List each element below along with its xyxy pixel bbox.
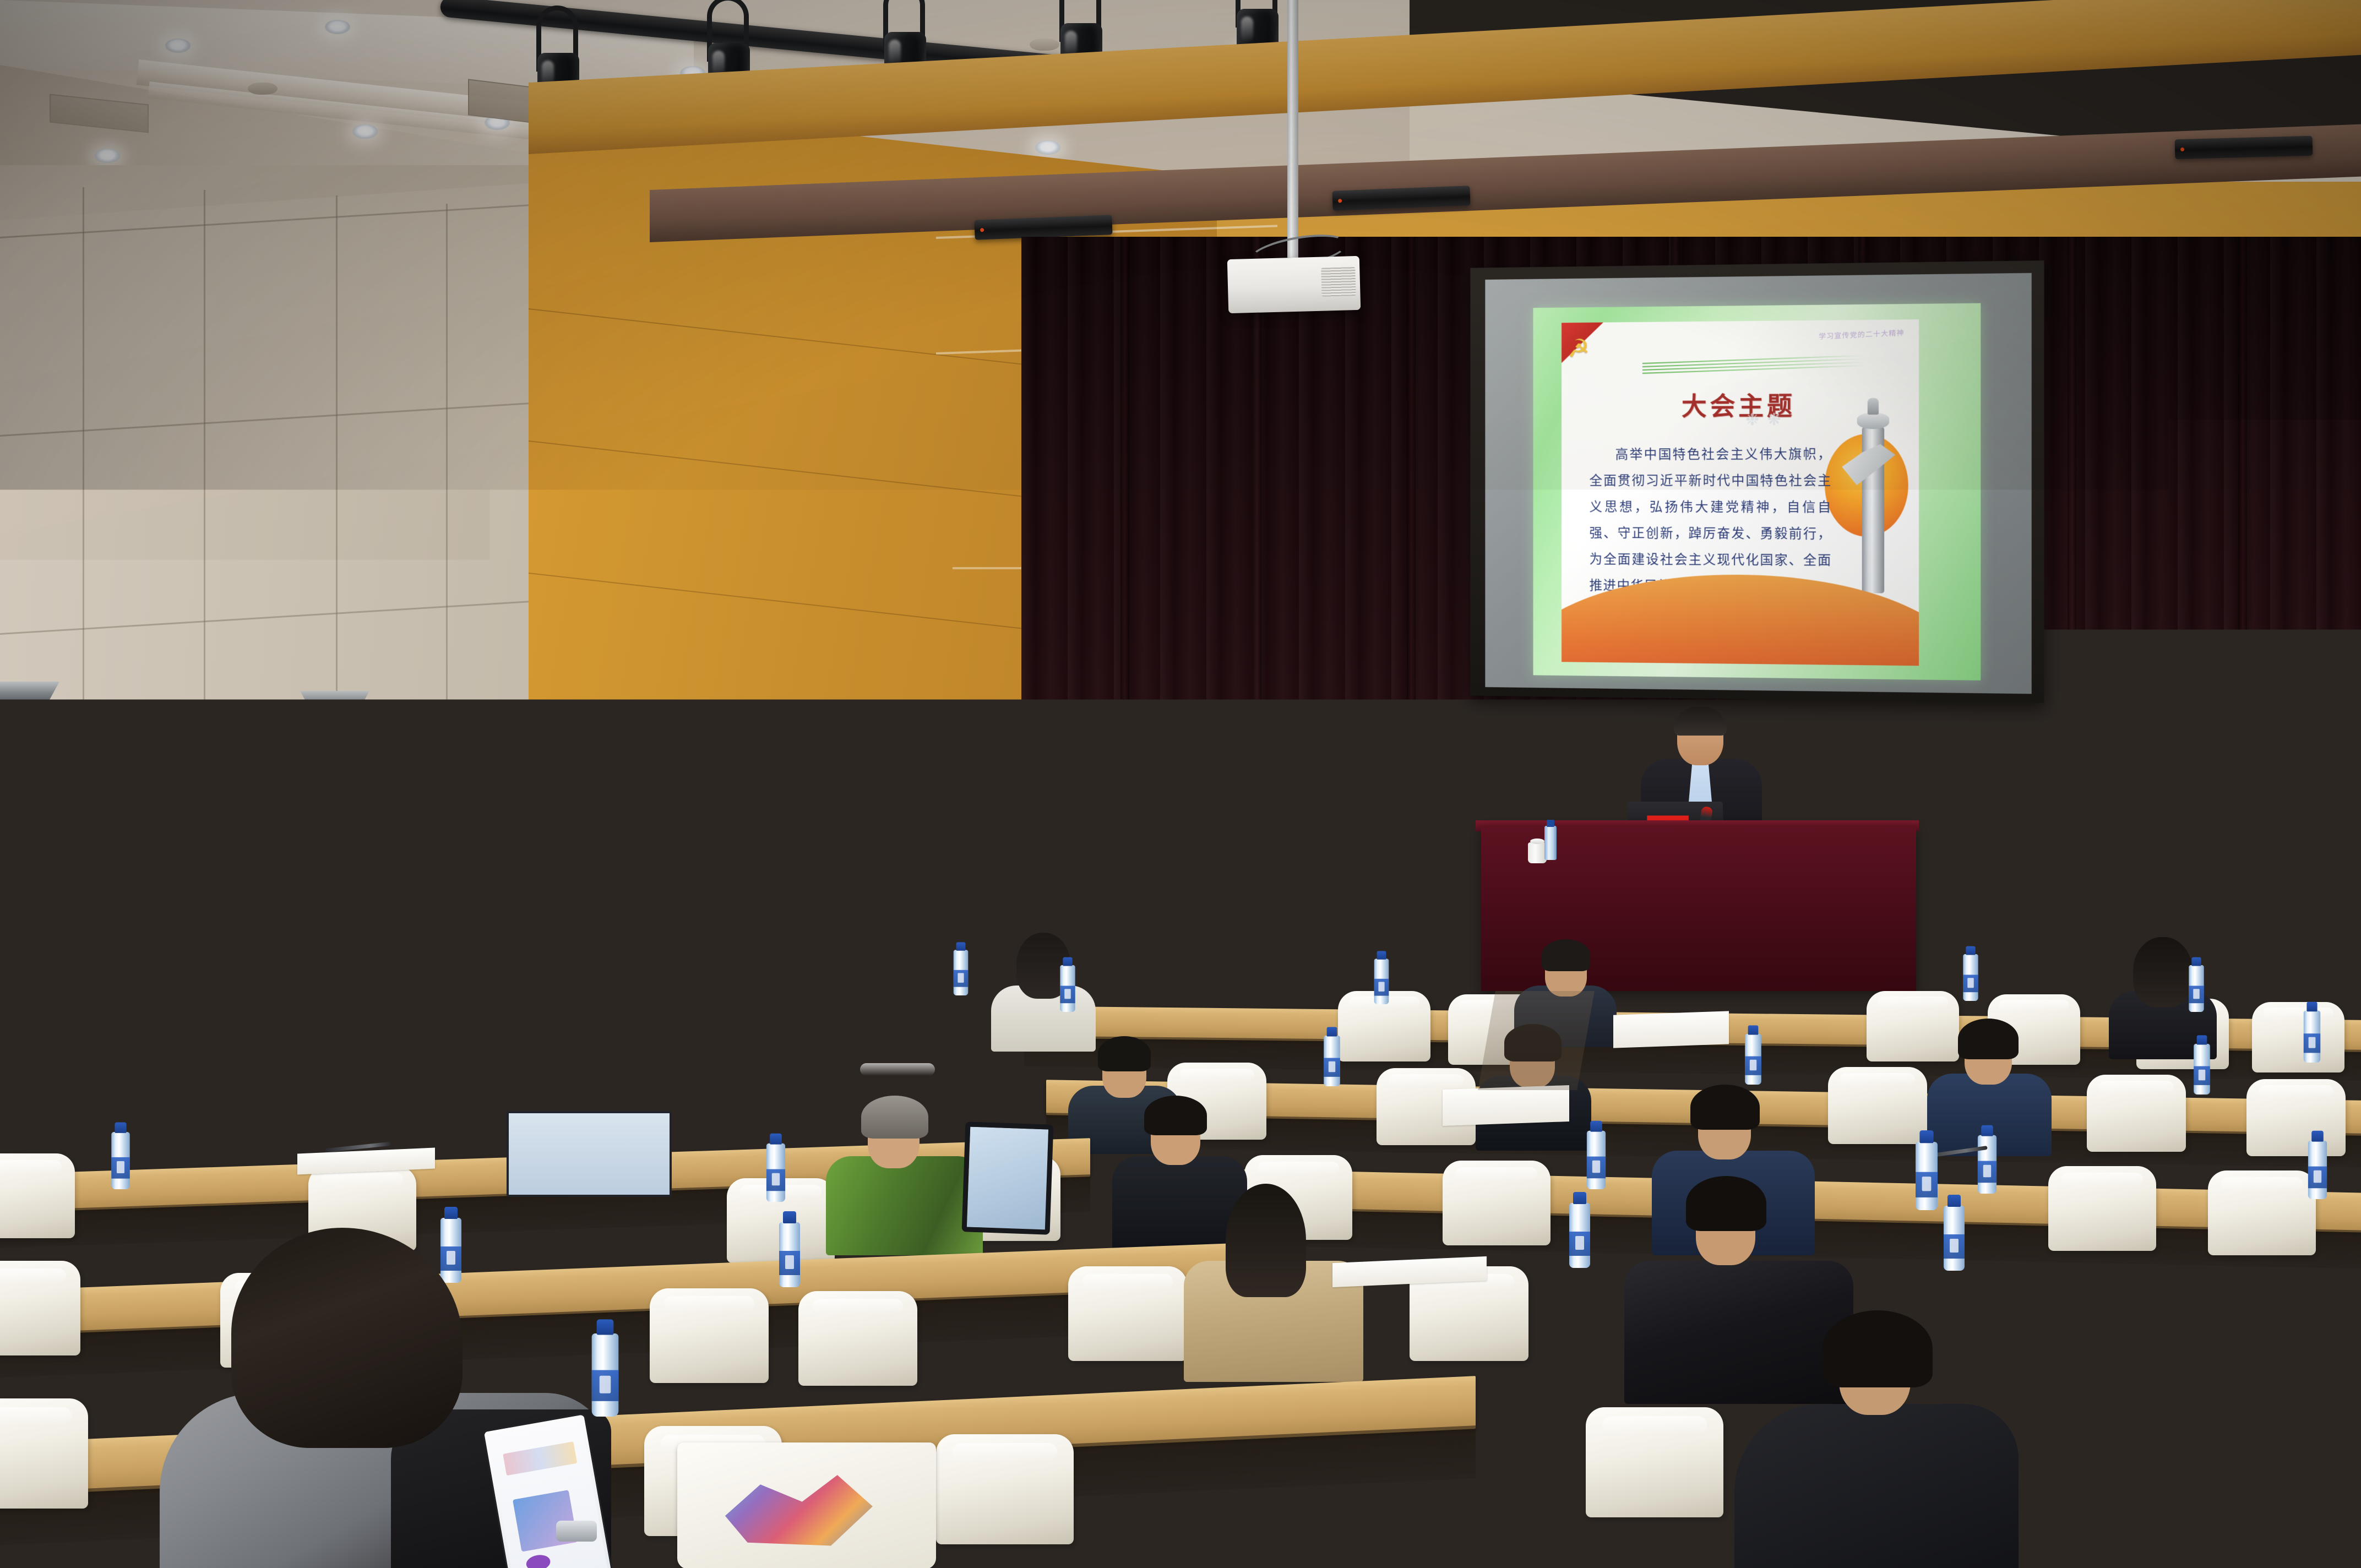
- person-hair: [1958, 1019, 2019, 1059]
- slide-header-tag: 学习宣传党的二十大精神: [1819, 326, 1905, 341]
- audience-chair: [1443, 1161, 1551, 1245]
- audience-chair: [0, 1261, 80, 1355]
- water-bottle: [2304, 1011, 2320, 1063]
- water-bottle: [345, 933, 358, 973]
- recessed-downlight: [165, 39, 191, 53]
- slide-rule-lines: [1642, 358, 1864, 374]
- person-hair: [1823, 1310, 1933, 1387]
- audience-chair: [2197, 1487, 2361, 1568]
- tote-bag: [677, 1442, 936, 1568]
- water-bottle: [779, 1222, 800, 1287]
- lectern-shelf: [1131, 822, 1258, 831]
- tea-mug: [1528, 842, 1547, 863]
- person-torso: [826, 1156, 983, 1255]
- audience-chair: [1586, 1407, 1723, 1517]
- audience-chair: [0, 1065, 77, 1142]
- audience-laptop: [209, 1035, 341, 1103]
- cpc-emblem-icon: ☭: [1565, 336, 1593, 364]
- person-hair: [1686, 1176, 1766, 1231]
- water-bottle: [2194, 1044, 2210, 1095]
- wall-panel-seam: [446, 204, 448, 820]
- audience-chair: [936, 1434, 1074, 1544]
- water-bottle: [1324, 1036, 1340, 1086]
- water-bottle: [1544, 826, 1557, 860]
- smoke-detector: [1030, 39, 1059, 51]
- audience-chair: [99, 994, 192, 1065]
- notebook: [1613, 1011, 1729, 1048]
- audience-chair: [650, 1288, 769, 1383]
- university-seal-icon: [1175, 863, 1215, 902]
- audience-laptop: [1129, 911, 1217, 957]
- slide-content-panel: ☭ 学习宣传党的二十大精神 大会主题 ❉ ❋ 高举中国特色社会主义伟大旗帜，全面…: [1562, 319, 1919, 666]
- audience-chair: [0, 1398, 88, 1509]
- water-bottle: [1963, 954, 1978, 1001]
- notebook: [1443, 1085, 1569, 1126]
- recessed-downlight: [352, 124, 378, 139]
- line-array-speaker: [2175, 136, 2313, 160]
- audience-chair: [798, 1291, 917, 1386]
- recessed-downlight: [1035, 140, 1060, 155]
- wall-panel-seam: [204, 190, 205, 823]
- audience-member: [1734, 1310, 2021, 1568]
- screen-surface: ☭ 学习宣传党的二十大精神 大会主题 ❉ ❋ 高举中国特色社会主义伟大旗帜，全面…: [1485, 273, 2031, 694]
- audience-chair: [1828, 1067, 1927, 1144]
- person-hair: [1226, 1184, 1306, 1297]
- audience-member: [991, 928, 1096, 1049]
- presenter-hair: [1674, 707, 1727, 736]
- audience-chair: [2175, 1283, 2294, 1378]
- recessed-downlight: [95, 149, 120, 163]
- audience-chair: [2252, 1002, 2344, 1072]
- center-aisle: [1478, 991, 1595, 1090]
- phone-screen-content: [488, 1418, 608, 1568]
- audience-laptop: [507, 1111, 672, 1197]
- cloud-decoration-icon: ❉ ❋: [1745, 410, 1782, 429]
- person-hair: [436, 1023, 500, 1090]
- audience-chair: [1068, 1266, 1187, 1361]
- audience-chair: [2087, 1075, 2186, 1152]
- water-bottle: [1745, 1034, 1761, 1085]
- wristwatch: [556, 1521, 597, 1542]
- projector-vent-grill: [1321, 267, 1356, 297]
- recessed-downlight: [325, 20, 350, 34]
- person-hair: [2133, 937, 2193, 1008]
- water-bottle: [111, 1132, 129, 1189]
- wall-panel-seam: [83, 187, 84, 820]
- water-bottle: [1978, 1135, 1996, 1194]
- audience-member: [826, 1096, 986, 1255]
- person-hair: [1690, 1085, 1760, 1130]
- water-bottle: [1916, 1142, 1938, 1210]
- lectern-nameplate: 北京交通大学: [1135, 804, 1255, 818]
- water-bottle: [1374, 959, 1389, 1004]
- audience-chair: [2048, 1166, 2156, 1251]
- person-hair: [217, 954, 272, 1002]
- auditorium-photo: ☭ 学习宣传党的二十大精神 大会主题 ❉ ❋ 高举中国特色社会主义伟大旗帜，全面…: [0, 0, 2361, 1568]
- water-bottle: [954, 950, 969, 995]
- audience-chair: [903, 984, 995, 1055]
- person-hair: [1144, 1096, 1207, 1135]
- person-torso: [1734, 1404, 2019, 1568]
- water-bottle: [1587, 1131, 1606, 1189]
- audience-laptop: [0, 972, 110, 1028]
- water-bottle: [1569, 1203, 1590, 1268]
- water-bottle: [2189, 965, 2204, 1012]
- person-hair: [1542, 939, 1590, 971]
- wall-panel-seam: [336, 195, 338, 823]
- water-bottle: [592, 1333, 619, 1417]
- lectern-top: 北京交通大学: [1135, 801, 1255, 823]
- projection-screen: ☭ 学习宣传党的二十大精神 大会主题 ❉ ❋ 高举中国特色社会主义伟大旗帜，全面…: [1470, 260, 2044, 703]
- water-bottle: [766, 1144, 785, 1202]
- water-bottle: [1060, 965, 1075, 1012]
- projector-mount-pole: [1287, 0, 1298, 258]
- person-hair: [861, 1096, 928, 1139]
- water-bottle: [2308, 1141, 2327, 1199]
- audience-chair: [0, 1153, 75, 1238]
- ceiling-projector: [1227, 256, 1361, 313]
- tablet-device: [962, 1121, 1054, 1234]
- person-hair: [1098, 1036, 1151, 1071]
- audience-chair: [793, 986, 885, 1056]
- water-bottle: [736, 1049, 752, 1100]
- water-bottle: [1944, 1206, 1965, 1271]
- presentation-slide: ☭ 学习宣传党的二十大精神 大会主题 ❉ ❋ 高举中国特色社会主义伟大旗帜，全面…: [1533, 303, 1981, 680]
- person-hair: [231, 1228, 463, 1448]
- smoke-detector: [248, 83, 278, 95]
- tote-bag-print: [719, 1471, 879, 1549]
- audience-chair: [2246, 1079, 2346, 1156]
- audience-chair: [2208, 1170, 2316, 1255]
